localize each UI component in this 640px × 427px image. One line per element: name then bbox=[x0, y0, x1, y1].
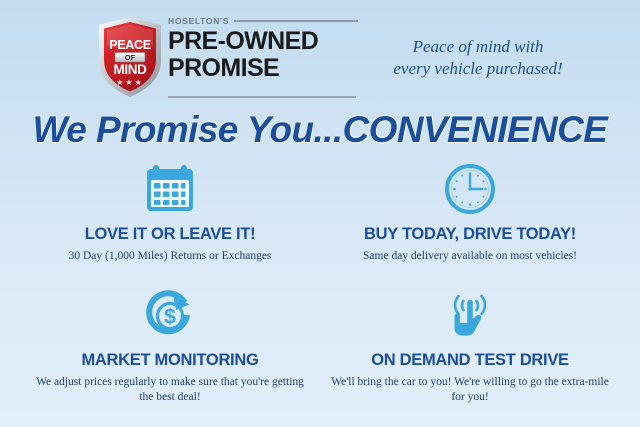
feature-icon-wrap bbox=[320, 284, 620, 346]
shield-word-of: OF bbox=[125, 53, 136, 62]
feature-title: BUY TODAY, DRIVE TODAY! bbox=[320, 224, 620, 244]
feature-market-monitoring: $ MARKET MONITORING We adjust prices reg… bbox=[20, 284, 320, 405]
tagline-line-1: Peace of mind with bbox=[358, 36, 598, 58]
feature-love-it-or-leave-it: LOVE IT OR LEAVE IT! 30 Day (1,000 Miles… bbox=[20, 158, 320, 264]
dollar-refresh-icon: $ bbox=[143, 288, 197, 342]
calendar-icon bbox=[143, 162, 197, 216]
feature-icon-wrap bbox=[20, 158, 320, 220]
feature-on-demand-test-drive: ON DEMAND TEST DRIVE We'll bring the car… bbox=[320, 284, 620, 405]
feature-grid: LOVE IT OR LEAVE IT! 30 Day (1,000 Miles… bbox=[0, 158, 640, 422]
tagline-line-2: every vehicle purchased! bbox=[358, 58, 598, 80]
peace-of-mind-shield-logo: PEACE OF MIND ★★★ bbox=[96, 16, 164, 98]
feature-title: LOVE IT OR LEAVE IT! bbox=[20, 224, 320, 244]
tap-hand-icon bbox=[443, 288, 497, 342]
feature-subtitle: Same day delivery available on most vehi… bbox=[320, 249, 620, 264]
feature-title: MARKET MONITORING bbox=[20, 350, 320, 370]
feature-subtitle: We'll bring the car to you! We're willin… bbox=[320, 375, 620, 405]
brand-wordmark: HOSELTON'S PRE-OWNED PROMISE bbox=[168, 14, 358, 81]
feature-subtitle: We adjust prices regularly to make sure … bbox=[20, 375, 320, 405]
shield-word-peace: PEACE bbox=[109, 38, 151, 52]
feature-subtitle: 30 Day (1,000 Miles) Returns or Exchange… bbox=[20, 249, 320, 264]
brand-eyebrow: HOSELTON'S bbox=[168, 16, 229, 26]
shield-stars: ★★★ bbox=[116, 78, 144, 87]
feature-title: ON DEMAND TEST DRIVE bbox=[320, 350, 620, 370]
brand-top-rule bbox=[234, 20, 358, 22]
feature-buy-today-drive-today: BUY TODAY, DRIVE TODAY! Same day deliver… bbox=[320, 158, 620, 264]
clock-icon bbox=[443, 162, 497, 216]
svg-text:$: $ bbox=[164, 306, 176, 329]
feature-icon-wrap bbox=[320, 158, 620, 220]
tagline: Peace of mind with every vehicle purchas… bbox=[358, 36, 598, 80]
brand-bottom-rule bbox=[168, 96, 356, 98]
shield-icon: PEACE OF MIND ★★★ bbox=[96, 16, 164, 98]
brand-lockup: PEACE OF MIND ★★★ HOSELTON'S PRE-OWNED P… bbox=[96, 12, 356, 102]
brand-name-line1: PRE-OWNED bbox=[168, 29, 358, 54]
promo-banner: PEACE OF MIND ★★★ HOSELTON'S PRE-OWNED P… bbox=[0, 0, 640, 427]
brand-name-line2: PROMISE bbox=[168, 56, 358, 81]
shield-word-mind: MIND bbox=[114, 62, 148, 77]
brand-eyebrow-row: HOSELTON'S bbox=[168, 14, 358, 27]
header: PEACE OF MIND ★★★ HOSELTON'S PRE-OWNED P… bbox=[0, 8, 640, 100]
page-title: We Promise You...CONVENIENCE bbox=[0, 108, 640, 152]
feature-icon-wrap: $ bbox=[20, 284, 320, 346]
